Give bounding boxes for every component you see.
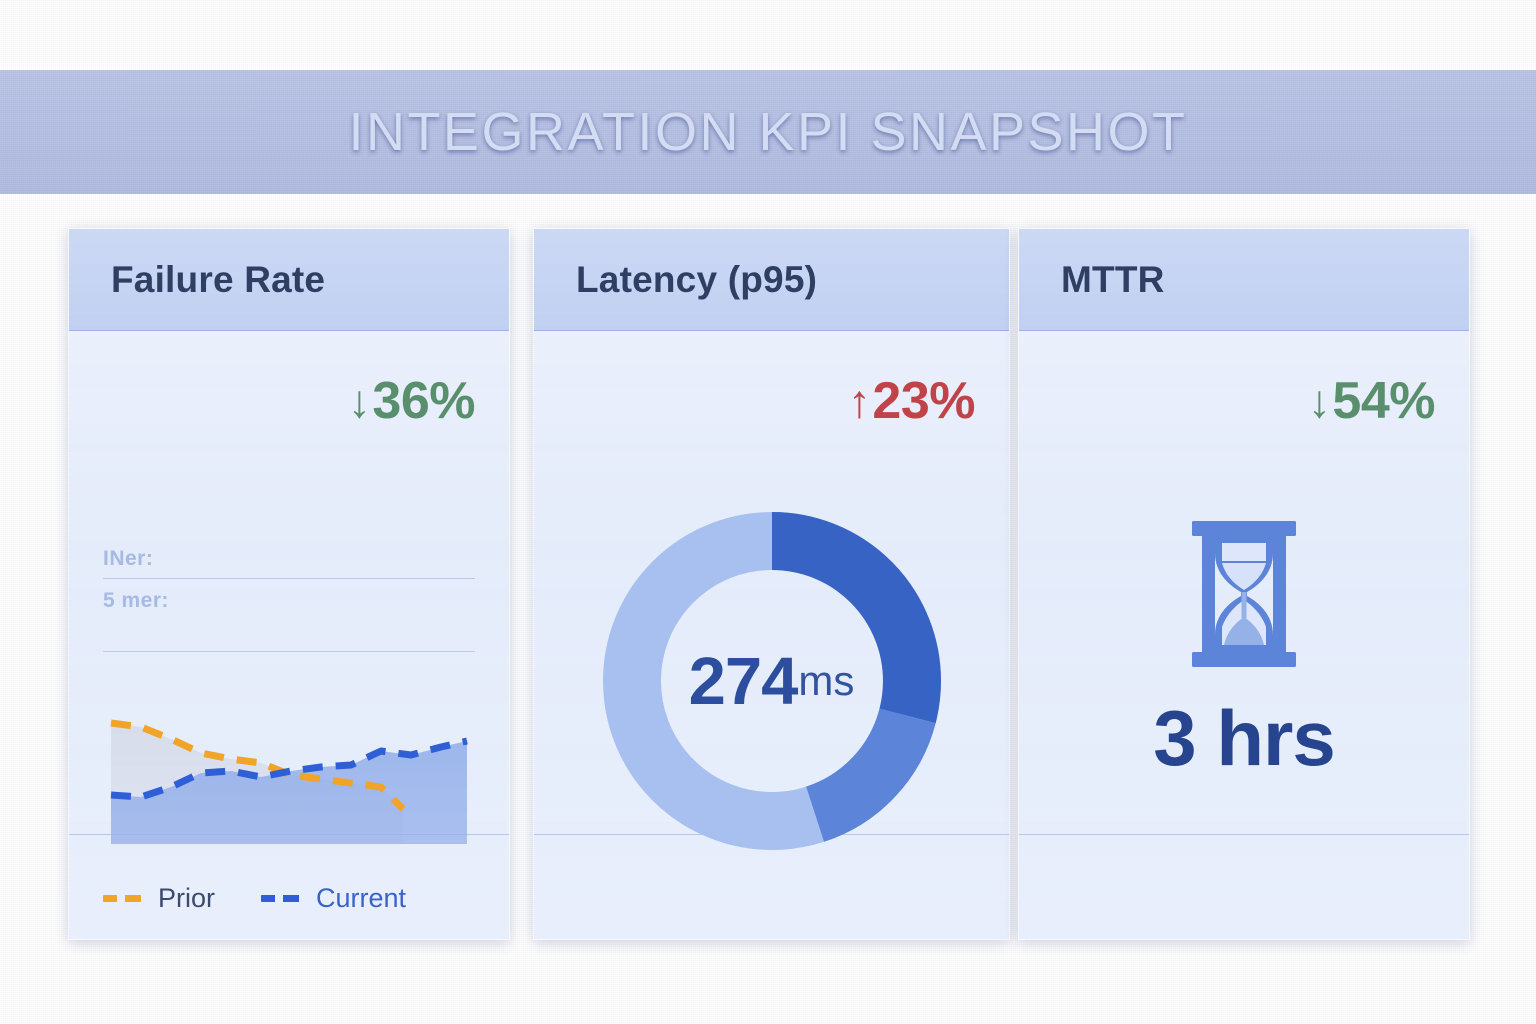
- failure-rate-sublabel-2: 5 mer:: [103, 585, 475, 618]
- legend-label-prior: Prior: [158, 883, 215, 914]
- kpi-dashboard: INTEGRATION KPI SNAPSHOT Failure Rate ↓ …: [0, 0, 1536, 1024]
- latency-donut-chart: 274 ms: [592, 501, 952, 861]
- delta-badge-mttr: ↓ 54%: [1308, 371, 1435, 431]
- card-body-latency: ↑ 23% 274 ms: [534, 331, 1009, 834]
- card-header-failure-rate: Failure Rate: [69, 229, 509, 331]
- mttr-value: 3 hrs: [1019, 693, 1469, 784]
- card-body-mttr: ↓ 54%: [1019, 331, 1469, 834]
- failure-rate-sublabels: INer: 5 mer:: [103, 543, 475, 617]
- legend-dash-icon-prior: [103, 895, 147, 902]
- sublabel-divider: [103, 578, 475, 579]
- card-title-failure-rate: Failure Rate: [111, 259, 325, 301]
- legend-label-current: Current: [316, 883, 406, 914]
- delta-badge-failure-rate: ↓ 36%: [348, 371, 475, 431]
- failure-rate-sublabel-1: INer:: [103, 543, 475, 576]
- card-footer-mttr: [1019, 834, 1469, 939]
- card-title-mttr: MTTR: [1061, 259, 1165, 301]
- hourglass-icon-svg: [1186, 519, 1302, 669]
- card-body-failure-rate: ↓ 36% INer: 5 mer:: [69, 331, 509, 834]
- card-header-latency: Latency (p95): [534, 229, 1009, 331]
- kpi-card-failure-rate[interactable]: Failure Rate ↓ 36% INer: 5 mer:: [68, 228, 510, 940]
- kpi-card-latency[interactable]: Latency (p95) ↑ 23%: [533, 228, 1010, 940]
- legend-item-prior[interactable]: Prior: [103, 883, 215, 914]
- delta-value-failure-rate: 36%: [372, 371, 475, 431]
- kpi-card-mttr[interactable]: MTTR ↓ 54%: [1018, 228, 1470, 940]
- failure-rate-line-chart: [103, 683, 475, 873]
- arrow-up-icon: ↑: [848, 378, 871, 424]
- arrow-down-icon: ↓: [1308, 378, 1331, 424]
- page-title: INTEGRATION KPI SNAPSHOT: [348, 101, 1187, 163]
- hourglass-icon: [1019, 519, 1469, 669]
- header-band: INTEGRATION KPI SNAPSHOT: [0, 70, 1536, 194]
- legend-item-current[interactable]: Current: [261, 883, 406, 914]
- card-header-mttr: MTTR: [1019, 229, 1469, 331]
- delta-value-latency: 23%: [872, 371, 975, 431]
- arrow-down-icon: ↓: [348, 378, 371, 424]
- legend-dash-icon-current: [261, 895, 305, 902]
- card-title-latency: Latency (p95): [576, 259, 817, 301]
- donut-chart-svg: [592, 501, 952, 861]
- delta-badge-latency: ↑ 23%: [848, 371, 975, 431]
- delta-value-mttr: 54%: [1332, 371, 1435, 431]
- chart-gridline: [103, 651, 475, 652]
- chart-legend: Prior Current: [103, 883, 475, 914]
- line-chart-svg: [103, 683, 475, 873]
